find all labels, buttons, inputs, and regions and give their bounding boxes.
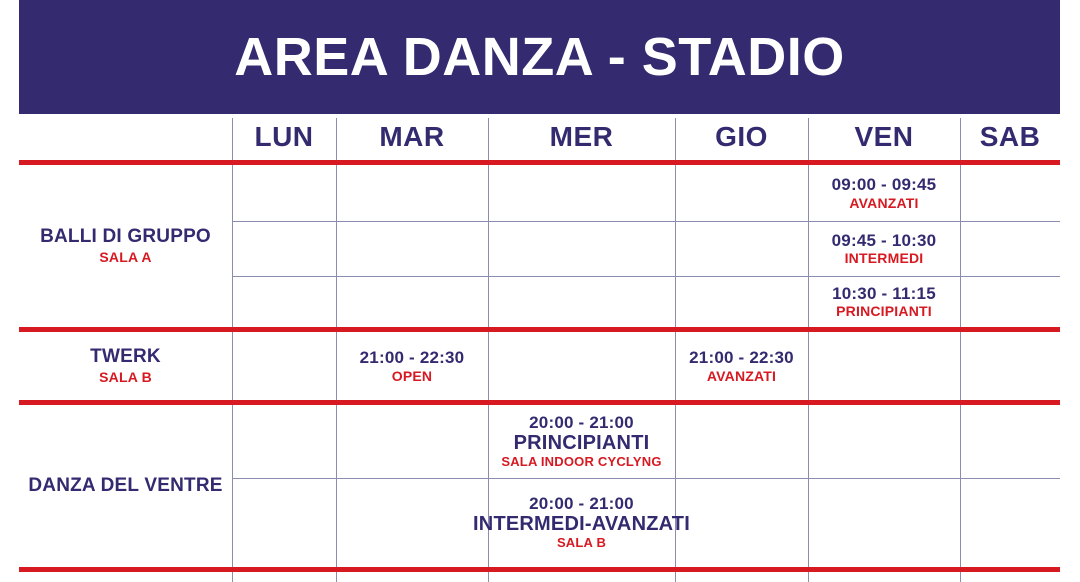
day-header-mer: MER — [488, 114, 675, 160]
class-cell-gio-twerk[interactable]: 21:00 - 22:30 AVANZATI — [675, 332, 808, 400]
day-header-lun: LUN — [232, 114, 336, 160]
class-cell-ven-balli-2[interactable]: 09:45 - 10:30 INTERMEDI — [808, 221, 960, 276]
class-time: 20:00 - 21:00 — [529, 413, 634, 433]
day-header-gio: GIO — [675, 114, 808, 160]
class-cell-mer-danza-2[interactable]: 20:00 - 21:00 INTERMEDI-AVANZATI SALA B — [488, 478, 675, 567]
section-label-twerk: TWERK SALA B — [19, 332, 232, 400]
class-level: PRINCIPIANTI — [836, 303, 932, 319]
class-time: 21:00 - 22:30 — [689, 348, 794, 368]
schedule-grid: LUN MAR MER GIO VEN SAB BALLI DI GRUPPO … — [19, 114, 1060, 582]
day-header-sab: SAB — [960, 114, 1060, 160]
class-cell-mar-twerk[interactable]: 21:00 - 22:30 OPEN — [336, 332, 488, 400]
class-level: OPEN — [392, 368, 432, 384]
section-label-balli-di-gruppo: BALLI DI GRUPPO SALA A — [19, 165, 232, 327]
section-rule-bottom — [19, 567, 1060, 572]
schedule-poster: AREA DANZA - STADIO LUN MAR MER GIO VEN … — [0, 0, 1080, 582]
day-header-ven: VEN — [808, 114, 960, 160]
section-title: TWERK — [90, 347, 161, 368]
class-cell-mer-danza-1[interactable]: 20:00 - 21:00 PRINCIPIANTI SALA INDOOR C… — [488, 405, 675, 478]
class-time: 21:00 - 22:30 — [360, 348, 465, 368]
title-banner: AREA DANZA - STADIO — [19, 0, 1060, 114]
class-time: 09:45 - 10:30 — [832, 231, 937, 251]
class-time: 10:30 - 11:15 — [832, 284, 936, 304]
day-header-mar: MAR — [336, 114, 488, 160]
class-level: PRINCIPIANTI — [514, 432, 650, 455]
class-level: AVANZATI — [707, 368, 776, 384]
class-time: 20:00 - 21:00 — [529, 494, 634, 514]
class-level: INTERMEDI — [845, 250, 924, 266]
section-room: SALA B — [99, 370, 152, 385]
column-divider-1 — [232, 118, 233, 582]
page-title: AREA DANZA - STADIO — [234, 30, 844, 84]
class-room: SALA INDOOR CYCLYNG — [501, 455, 661, 470]
class-time: 09:00 - 09:45 — [832, 175, 937, 195]
section-title: DANZA DEL VENTRE — [28, 476, 222, 497]
class-cell-ven-balli-1[interactable]: 09:00 - 09:45 AVANZATI — [808, 165, 960, 221]
section-room: SALA A — [99, 250, 151, 265]
day-header-row: LUN MAR MER GIO VEN SAB — [19, 114, 1060, 160]
section-title: BALLI DI GRUPPO — [40, 227, 211, 248]
section-label-danza-del-ventre: DANZA DEL VENTRE — [19, 405, 232, 567]
class-level: INTERMEDI-AVANZATI — [473, 513, 690, 536]
class-cell-ven-balli-3[interactable]: 10:30 - 11:15 PRINCIPIANTI — [808, 276, 960, 327]
column-divider-6 — [960, 118, 961, 582]
class-level: AVANZATI — [849, 195, 918, 211]
class-room: SALA B — [557, 536, 606, 551]
